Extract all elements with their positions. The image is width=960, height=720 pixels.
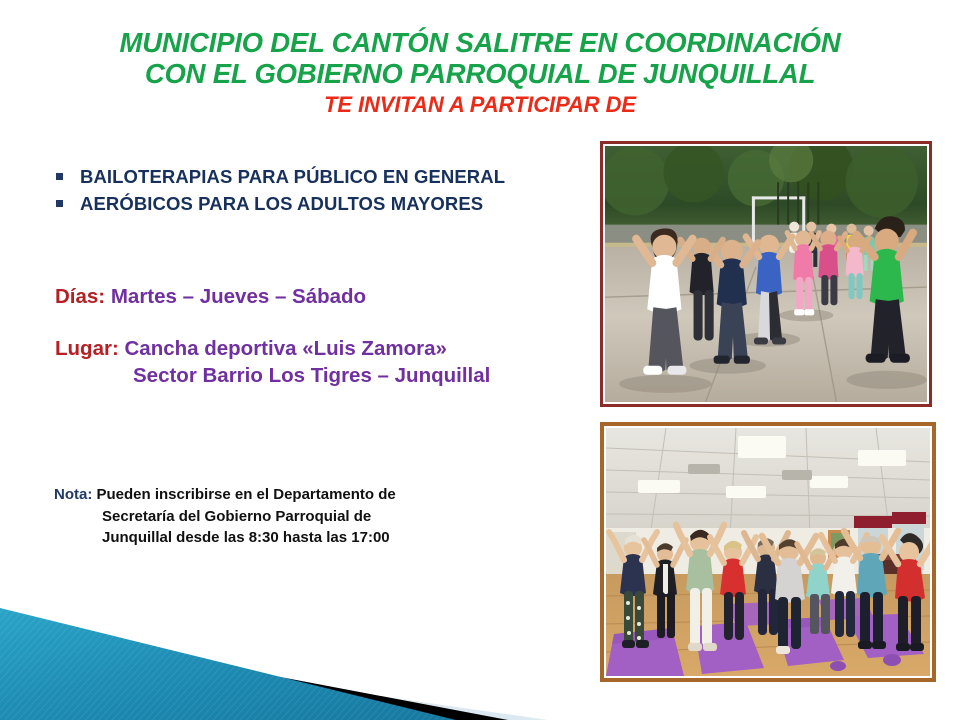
outdoor-dance-class-illustration	[605, 146, 927, 402]
activity-label: BAILOTERAPIAS PARA PÚBLICO EN GENERAL	[80, 166, 505, 188]
outdoor-photo-canvas	[605, 146, 927, 402]
poster-canvas: MUNICIPIO DEL CANTÓN SALITRE EN COORDINA…	[0, 0, 960, 720]
detail-lugar-second-line: Sector Barrio Los Tigres – Junquillal	[55, 362, 595, 389]
poster-header: MUNICIPIO DEL CANTÓN SALITRE EN COORDINA…	[0, 28, 960, 117]
header-title-line-2: CON EL GOBIERNO PARROQUIAL DE JUNQUILLAL	[0, 59, 960, 88]
detail-dias-label: Días:	[55, 285, 105, 308]
list-item: BAILOTERAPIAS PARA PÚBLICO EN GENERAL	[56, 166, 586, 188]
teal-wedge	[0, 608, 456, 720]
square-bullet-icon	[56, 173, 63, 180]
nota-label: Nota:	[54, 486, 92, 503]
nota-block: Nota: Pueden inscribirse en el Departame…	[54, 484, 524, 549]
nota-line-3: Junquillal desde las 8:30 hasta las 17:0…	[54, 527, 524, 549]
activities-list: BAILOTERAPIAS PARA PÚBLICO EN GENERAL AE…	[56, 166, 586, 220]
nota-first-line: Nota: Pueden inscribirse en el Departame…	[54, 484, 524, 506]
bottom-left-diagonal-banner	[0, 590, 560, 720]
pale-blue-stripe	[0, 642, 548, 720]
detail-lugar-label: Lugar:	[55, 337, 119, 360]
teal-wedge-texture	[0, 608, 456, 720]
detail-dias: Días: Martes – Jueves – Sábado	[55, 283, 595, 310]
outdoor-dance-class-photo	[600, 141, 932, 407]
black-stripe	[0, 624, 508, 720]
nota-line-1: Pueden inscribirse en el Departamento de	[97, 486, 396, 503]
detail-spacer	[55, 310, 595, 335]
detail-lugar-value-line-1: Cancha deportiva «Luis Zamora»	[124, 337, 446, 360]
detail-dias-value: Martes – Jueves – Sábado	[111, 285, 366, 308]
indoor-seniors-exercise-illustration	[606, 428, 930, 676]
detail-lugar: Lugar: Cancha deportiva «Luis Zamora»	[55, 335, 595, 362]
event-details: Días: Martes – Jueves – Sábado Lugar: Ca…	[55, 283, 595, 389]
detail-lugar-value-line-2: Sector Barrio Los Tigres – Junquillal	[133, 364, 490, 387]
nota-line-2: Secretaría del Gobierno Parroquial de	[54, 506, 524, 528]
activity-label: AERÓBICOS PARA LOS ADULTOS MAYORES	[80, 193, 483, 215]
list-item: AERÓBICOS PARA LOS ADULTOS MAYORES	[56, 193, 586, 215]
indoor-seniors-exercise-photo	[600, 422, 936, 682]
indoor-photo-canvas	[606, 428, 930, 676]
header-subtitle: TE INVITAN A PARTICIPAR DE	[0, 93, 960, 116]
header-title-line-1: MUNICIPIO DEL CANTÓN SALITRE EN COORDINA…	[0, 28, 960, 57]
square-bullet-icon	[56, 200, 63, 207]
